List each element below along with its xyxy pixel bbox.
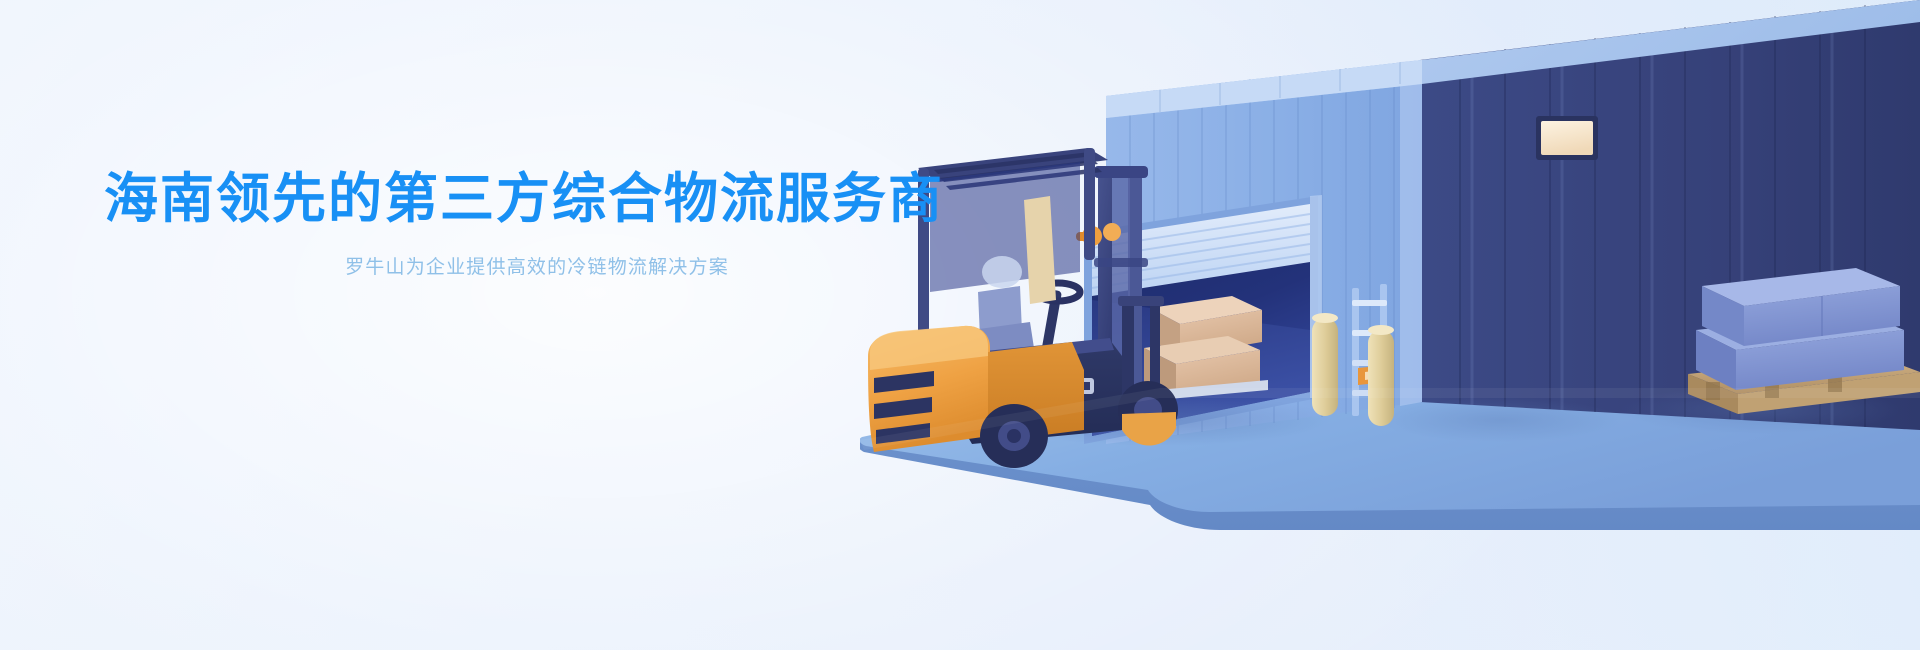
- bollard-left: [1312, 313, 1338, 416]
- bollard-right: [1368, 325, 1394, 426]
- page-subtitle: 罗牛山为企业提供高效的冷链物流解决方案: [104, 254, 984, 283]
- page-title: 海南领先的第三方综合物流服务商: [104, 168, 984, 232]
- hero-illustration: [860, 0, 1920, 650]
- hero-banner: 海南领先的第三方综合物流服务商 罗牛山为企业提供高效的冷链物流解决方案: [0, 0, 1920, 650]
- warehouse-scene-svg: [860, 0, 1920, 650]
- warehouse-window: [1536, 116, 1598, 160]
- hero-copy: 海南领先的第三方综合物流服务商 罗牛山为企业提供高效的冷链物流解决方案: [104, 168, 984, 282]
